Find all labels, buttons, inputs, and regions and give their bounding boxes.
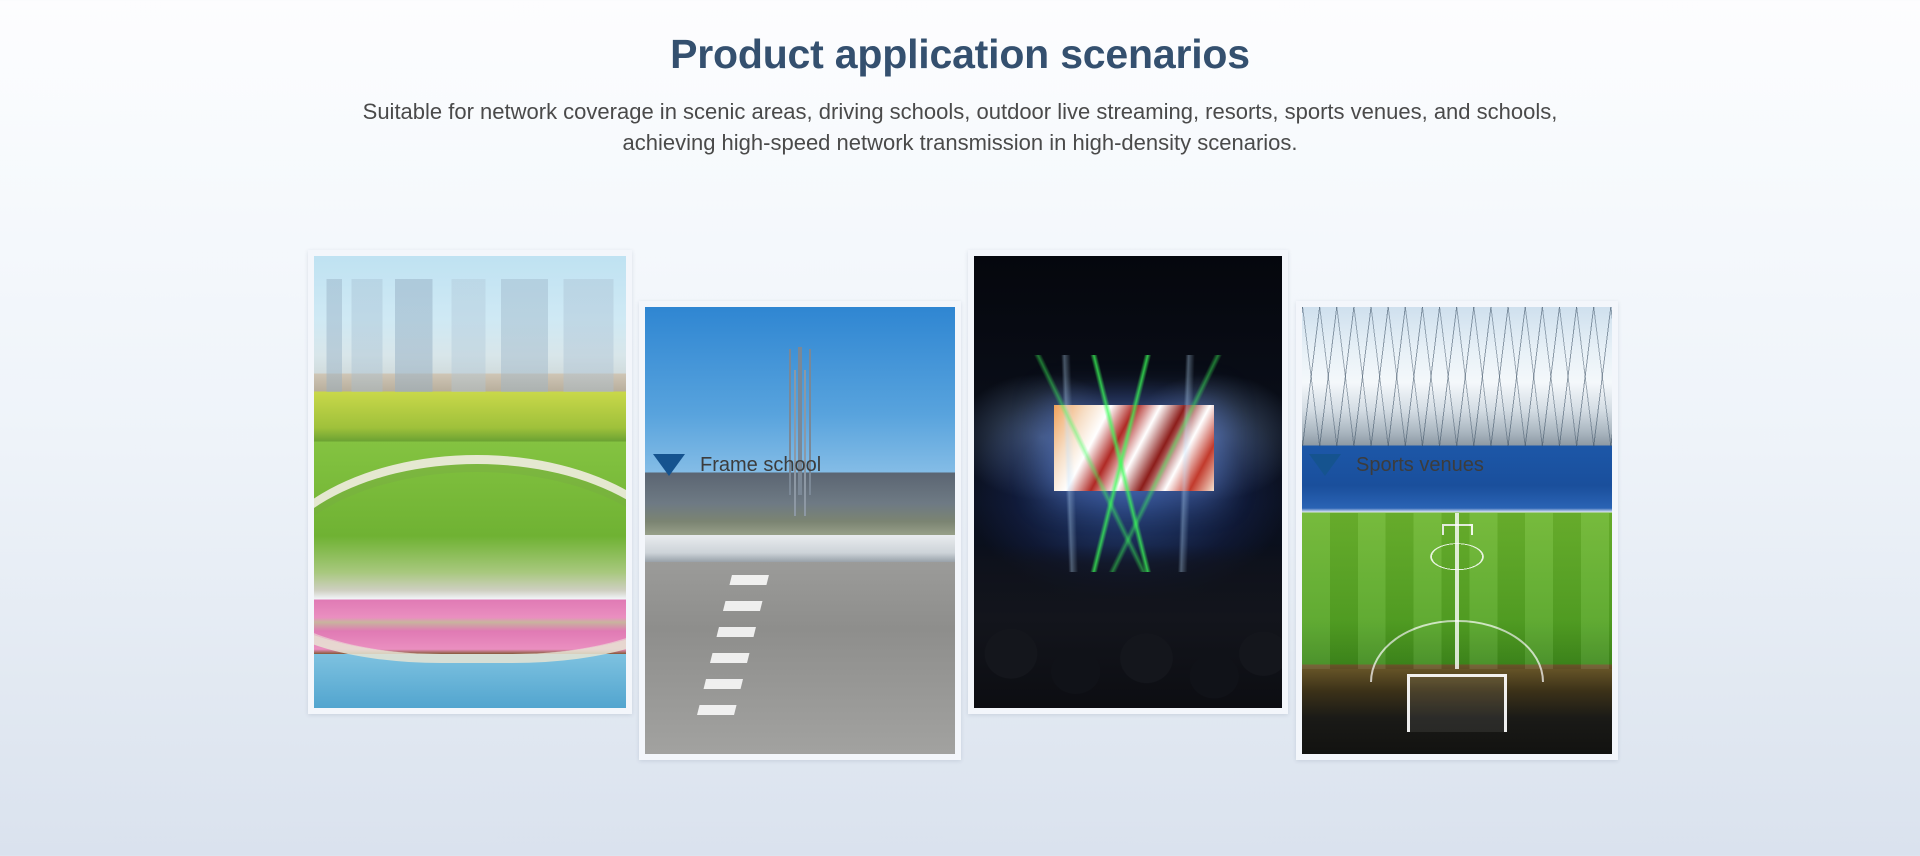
label-frame-school[interactable]: Frame school bbox=[653, 454, 821, 476]
outdoor-concert-image bbox=[974, 256, 1282, 708]
triangle-down-icon bbox=[1309, 454, 1341, 476]
scenario-gallery: Frame school Sports venues Scenic spot O… bbox=[0, 196, 1920, 666]
triangle-down-icon bbox=[653, 454, 685, 476]
page-title: Product application scenarios bbox=[0, 30, 1920, 79]
label-sports-venues[interactable]: Sports venues bbox=[1309, 454, 1484, 476]
label-frame-school-text: Frame school bbox=[700, 455, 821, 475]
scenario-card-frame-school[interactable] bbox=[639, 301, 961, 760]
scenario-card-scenic-spot[interactable] bbox=[308, 250, 632, 714]
sports-venues-image bbox=[1302, 307, 1612, 754]
scenario-card-outdoor-concert[interactable] bbox=[968, 250, 1288, 714]
frame-school-image bbox=[645, 307, 955, 754]
far-goal-shape bbox=[1442, 524, 1473, 535]
scenic-spot-image bbox=[314, 256, 626, 708]
near-goal-shape bbox=[1407, 674, 1506, 732]
section-header: Product application scenarios Suitable f… bbox=[0, 0, 1920, 158]
label-sports-venues-text: Sports venues bbox=[1356, 455, 1484, 475]
page-subtitle: Suitable for network coverage in scenic … bbox=[310, 97, 1610, 158]
scenario-card-sports-venues[interactable] bbox=[1296, 301, 1618, 760]
